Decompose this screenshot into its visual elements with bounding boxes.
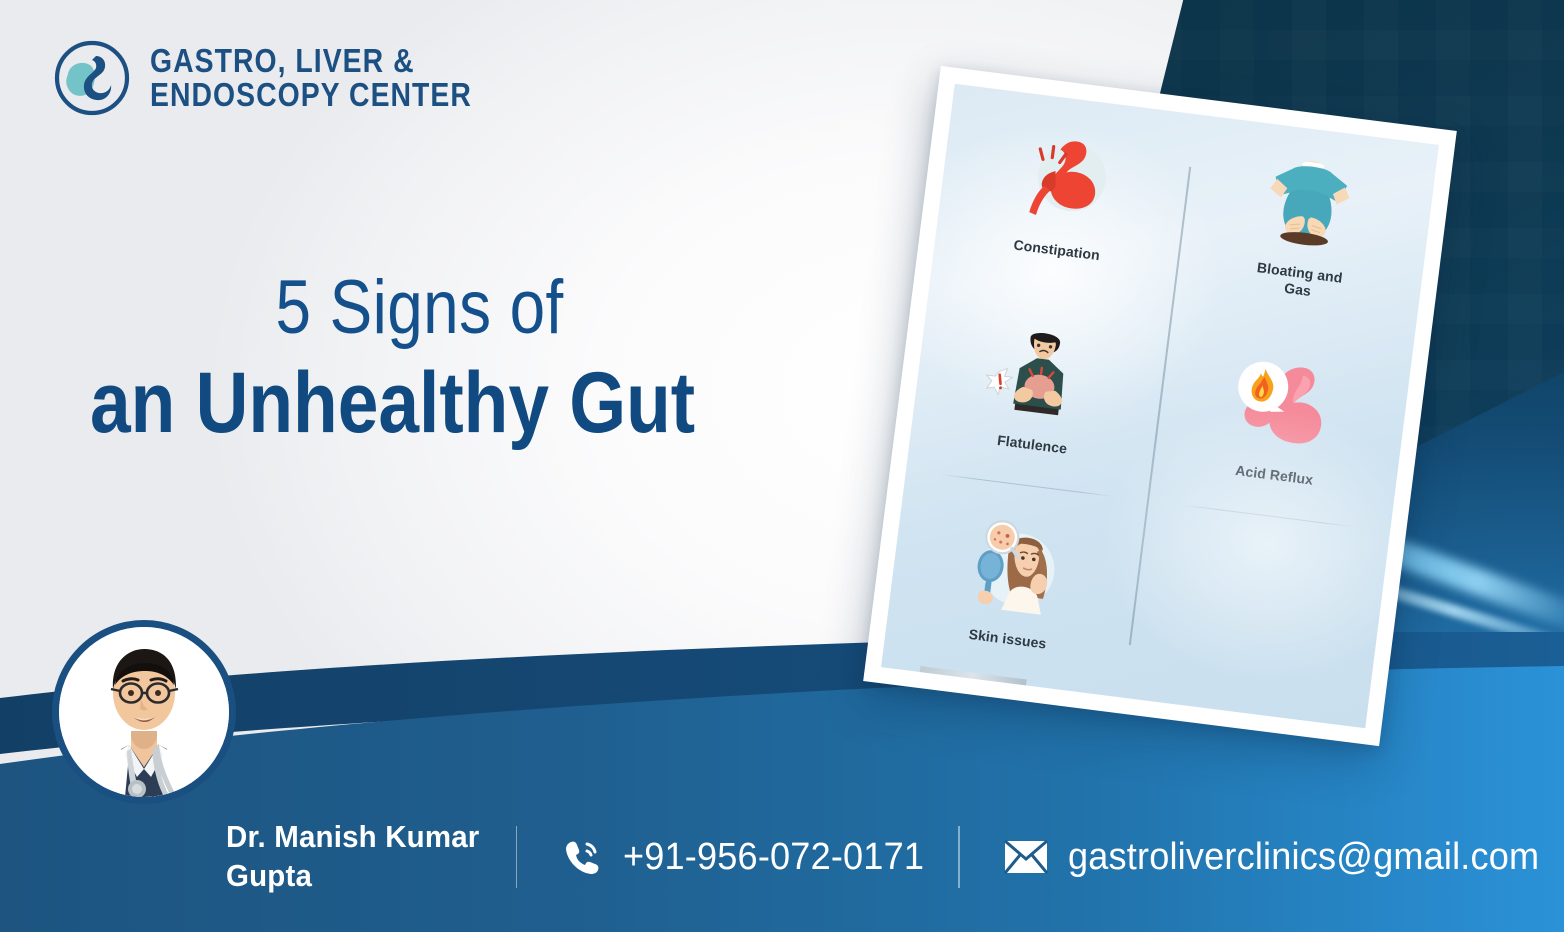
liver-stomach-circle-icon bbox=[52, 38, 132, 118]
doctor-portrait-avatar bbox=[59, 627, 229, 797]
infographic-caption: Skin issues bbox=[968, 626, 1048, 653]
infographic-grid: Constipation bbox=[881, 84, 1439, 729]
infographic-card-paper: Constipation bbox=[863, 66, 1457, 746]
poster-canvas: GASTRO, LIVER & ENDOSCOPY CENTER 5 Signs… bbox=[0, 0, 1564, 932]
email-address: gastroliverclinics@gmail.com bbox=[1068, 836, 1539, 879]
headline-line-1: 5 Signs of bbox=[151, 270, 789, 346]
infographic-item-acid-reflux[interactable]: Acid Reflux bbox=[1148, 309, 1415, 534]
page-title: 5 Signs of an Unhealthy Gut bbox=[90, 270, 850, 448]
woman-mirror-acne-icon bbox=[954, 515, 1078, 632]
infographic-caption: Acid Reflux bbox=[1234, 462, 1314, 489]
brand-line-1: GASTRO, LIVER & bbox=[150, 44, 472, 78]
phone-call-icon bbox=[561, 836, 603, 878]
envelope-icon bbox=[1004, 840, 1048, 874]
infographic-caption: Flatulence bbox=[996, 432, 1068, 458]
doctor-name-line-2: Gupta bbox=[226, 857, 484, 896]
footer-contact-bar: Dr. Manish Kumar Gupta +91-956-072-0171 … bbox=[0, 782, 1564, 932]
phone-contact[interactable]: +91-956-072-0171 bbox=[561, 836, 940, 879]
bloated-belly-hands-icon bbox=[1246, 148, 1370, 265]
avatar bbox=[52, 620, 236, 804]
doctor-name: Dr. Manish Kumar Gupta bbox=[226, 818, 484, 896]
infographic-caption: Constipation bbox=[1013, 237, 1101, 265]
infographic-card-inner: Constipation bbox=[881, 84, 1439, 729]
headline-line-2: an Unhealthy Gut bbox=[90, 360, 736, 448]
red-stomach-knot-icon bbox=[1003, 126, 1127, 243]
doctor-name-line-1: Dr. Manish Kumar bbox=[226, 818, 484, 857]
infographic-item-flatulence[interactable]: Flatulence bbox=[906, 278, 1173, 503]
divider bbox=[516, 826, 518, 888]
brand-line-2: ENDOSCOPY CENTER bbox=[150, 78, 472, 112]
man-stomach-pain-icon bbox=[978, 320, 1102, 437]
infographic-card[interactable]: Constipation bbox=[900, 96, 1420, 716]
divider bbox=[958, 826, 960, 888]
stomach-flame-bubble-icon bbox=[1220, 351, 1344, 468]
infographic-item-skin-issues[interactable]: Skin issues bbox=[881, 473, 1148, 698]
infographic-caption: Bloating andGas bbox=[1254, 259, 1344, 305]
infographic-item-constipation[interactable]: Constipation bbox=[930, 84, 1197, 309]
email-contact[interactable]: gastroliverclinics@gmail.com bbox=[1004, 836, 1564, 879]
infographic-item-bloating-gas[interactable]: Bloating andGas bbox=[1172, 114, 1439, 339]
brand-logo-text: GASTRO, LIVER & ENDOSCOPY CENTER bbox=[150, 44, 524, 112]
phone-number: +91-956-072-0171 bbox=[623, 836, 924, 879]
brand-logo[interactable]: GASTRO, LIVER & ENDOSCOPY CENTER bbox=[52, 38, 524, 118]
